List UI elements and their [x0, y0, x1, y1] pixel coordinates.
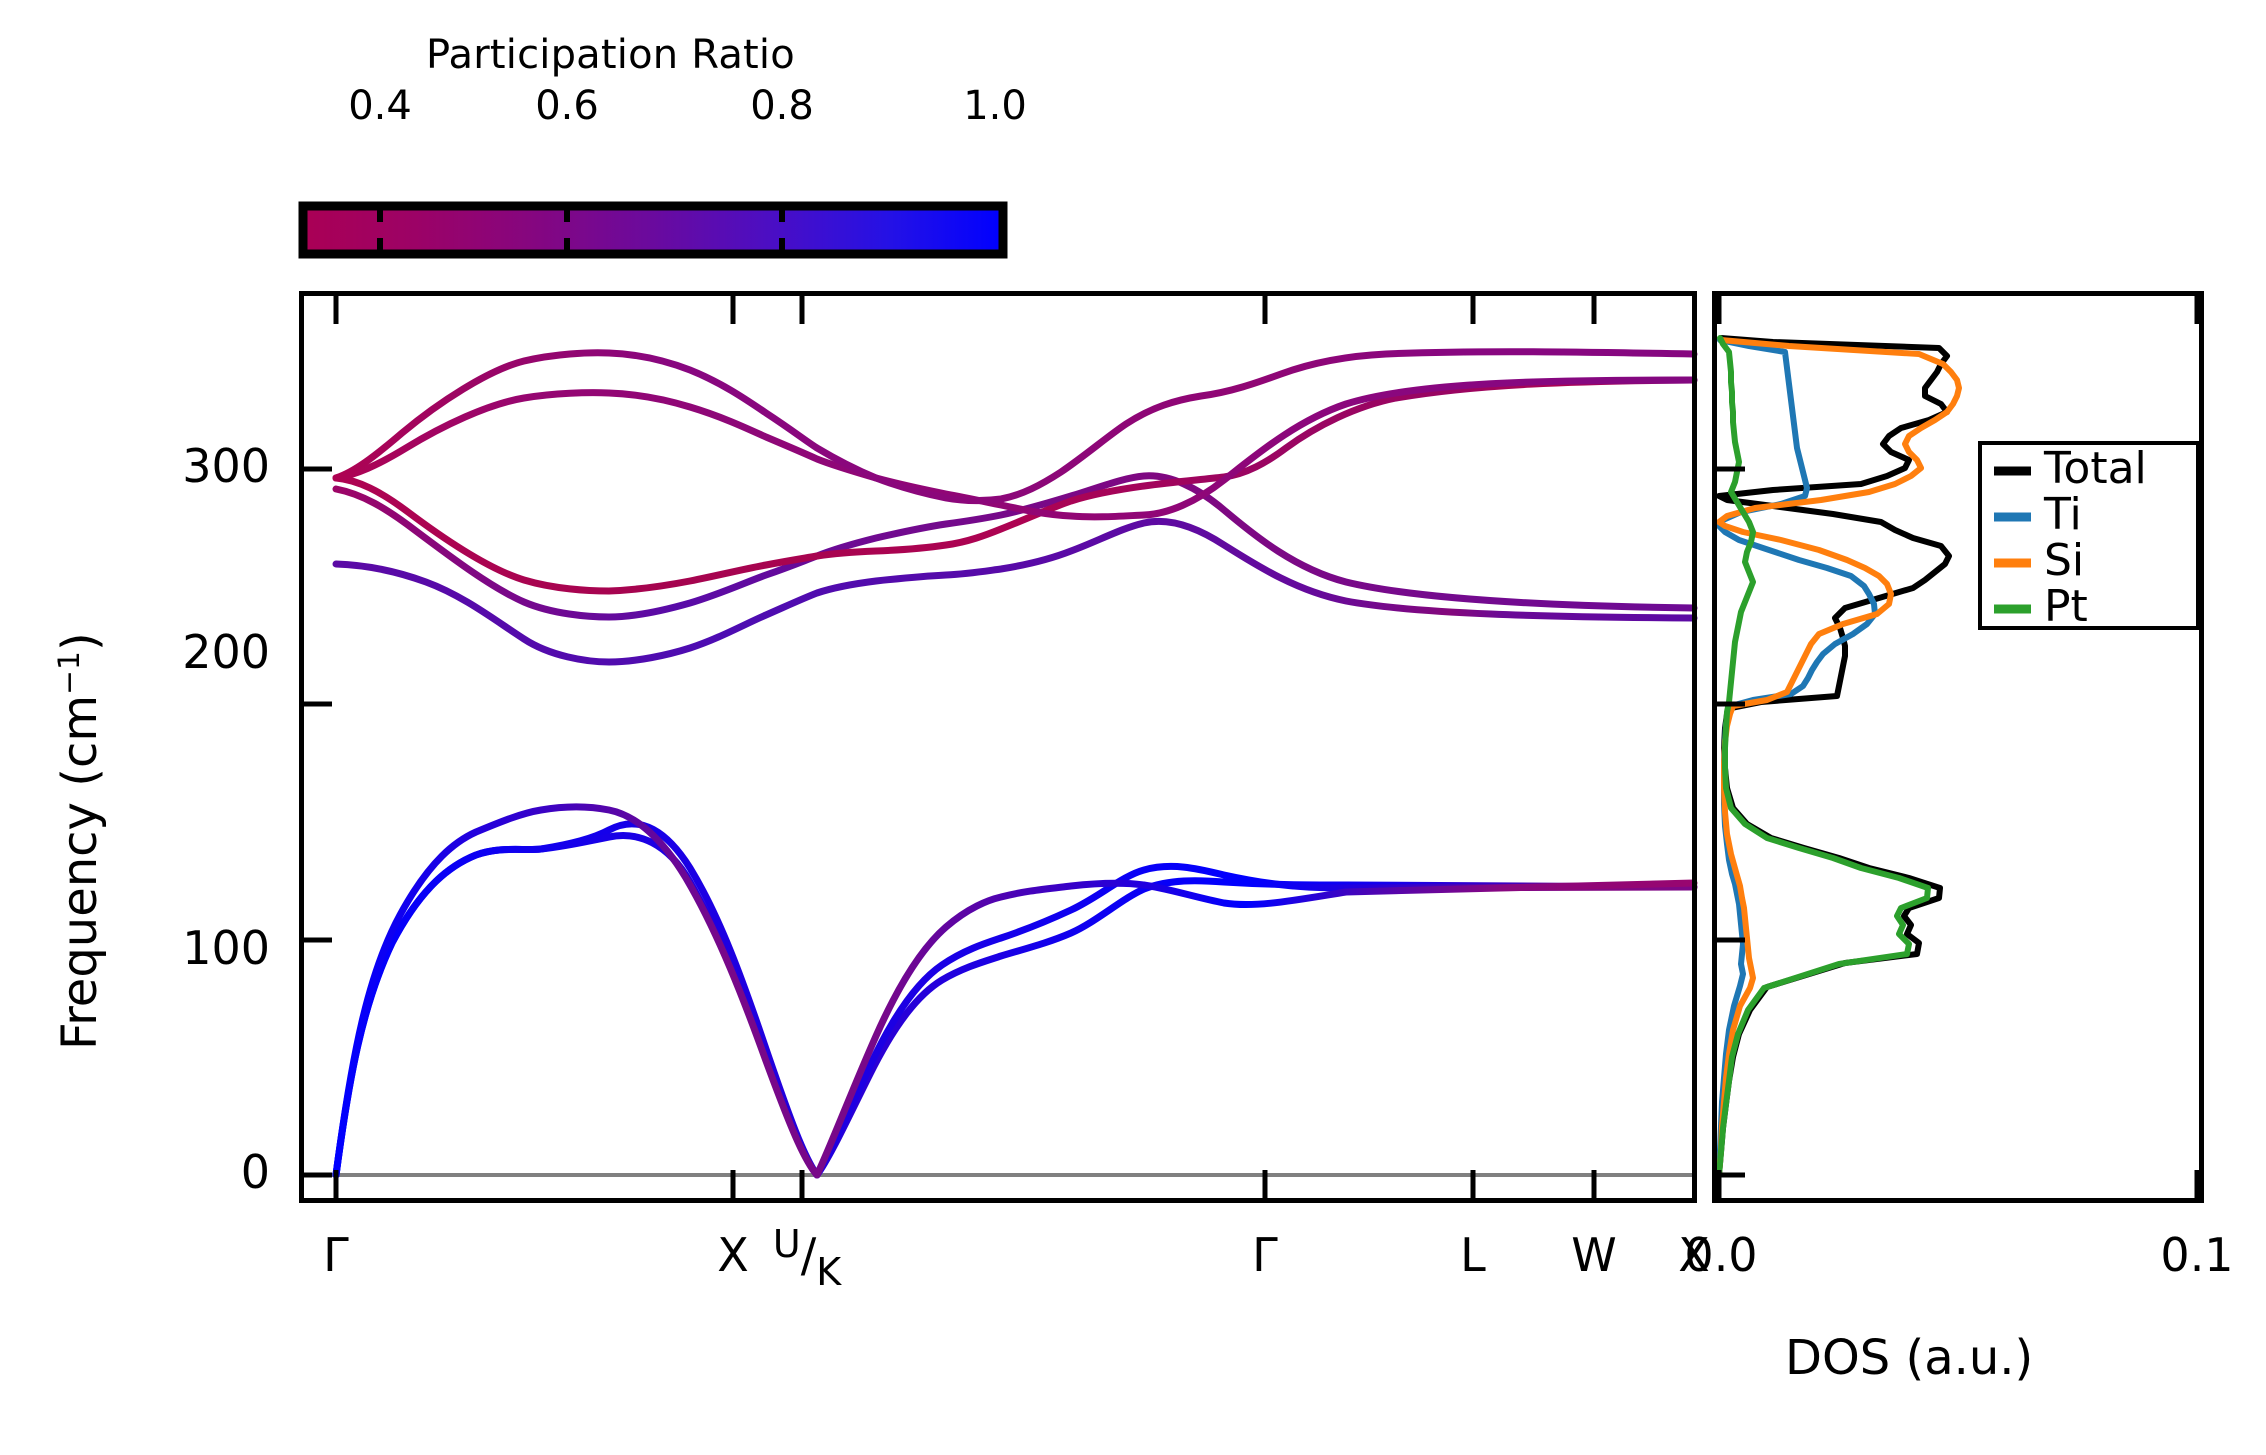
dos-curve-pt: [1719, 338, 1928, 1175]
dos-legend-label-ti: Ti: [2044, 493, 2082, 537]
x-tick-label-gamma-2: Γ: [1205, 1228, 1325, 1282]
band-optic-1: [336, 521, 1694, 662]
x-tick-label-U-over-K: U/K: [742, 1228, 872, 1282]
band-optic-3: [336, 380, 1694, 591]
x-tick-label-gamma-1: Γ: [276, 1228, 396, 1282]
dos-curve-ti: [1719, 340, 1875, 1175]
y-axis-label-main: Frequency (cm: [52, 695, 108, 1050]
x-tick-label-K: K: [816, 1250, 841, 1294]
band-acoustic-3: [336, 807, 1694, 1175]
colorbar-tick-label-1: 0.6: [527, 83, 607, 129]
x-tick-slash: /: [801, 1228, 817, 1282]
colorbar[interactable]: [295, 198, 1011, 262]
colorbar-tick-label-3: 1.0: [955, 83, 1035, 129]
y-tick-label-200: 200: [110, 625, 270, 679]
dos-x-tick-label-0: 0.0: [1656, 1228, 1786, 1282]
band-optic-5: [336, 352, 1694, 501]
figure-canvas: Participation Ratio 0.4 0.6 0.8 1.0 Freq: [0, 0, 2266, 1455]
y-tick-label-0: 0: [110, 1145, 270, 1199]
band-structure-panel[interactable]: [296, 288, 1700, 1206]
dos-legend-label-pt: Pt: [2044, 585, 2088, 629]
y-tick-label-300: 300: [110, 439, 270, 493]
dos-panel-frame: [1715, 294, 2202, 1201]
dos-legend-label-total: Total: [2044, 447, 2147, 491]
y-axis-label: Frequency (cm−1): [52, 632, 108, 1050]
dos-panel[interactable]: [1709, 288, 2207, 1206]
colorbar-tick-label-2: 0.8: [742, 83, 822, 129]
colorbar-gradient: [303, 206, 1003, 254]
dos-curve-total: [1719, 338, 1949, 1175]
y-axis-label-tail: ): [52, 632, 108, 651]
colorbar-tick-label-0: 0.4: [340, 83, 420, 129]
y-axis-label-exponent: −1: [52, 651, 87, 695]
dos-x-axis-label: DOS (a.u.): [1785, 1330, 2033, 1386]
x-tick-label-L: L: [1413, 1228, 1533, 1282]
colorbar-title: Participation Ratio: [426, 32, 795, 78]
x-tick-label-U: U: [773, 1222, 801, 1266]
dos-curve-si: [1719, 340, 1959, 1175]
dos-legend-label-si: Si: [2044, 539, 2084, 583]
band-acoustic-1: [336, 824, 1694, 1175]
y-tick-label-100: 100: [110, 921, 270, 975]
dos-x-tick-label-1: 0.1: [2132, 1228, 2262, 1282]
band-panel-frame: [302, 294, 1695, 1201]
